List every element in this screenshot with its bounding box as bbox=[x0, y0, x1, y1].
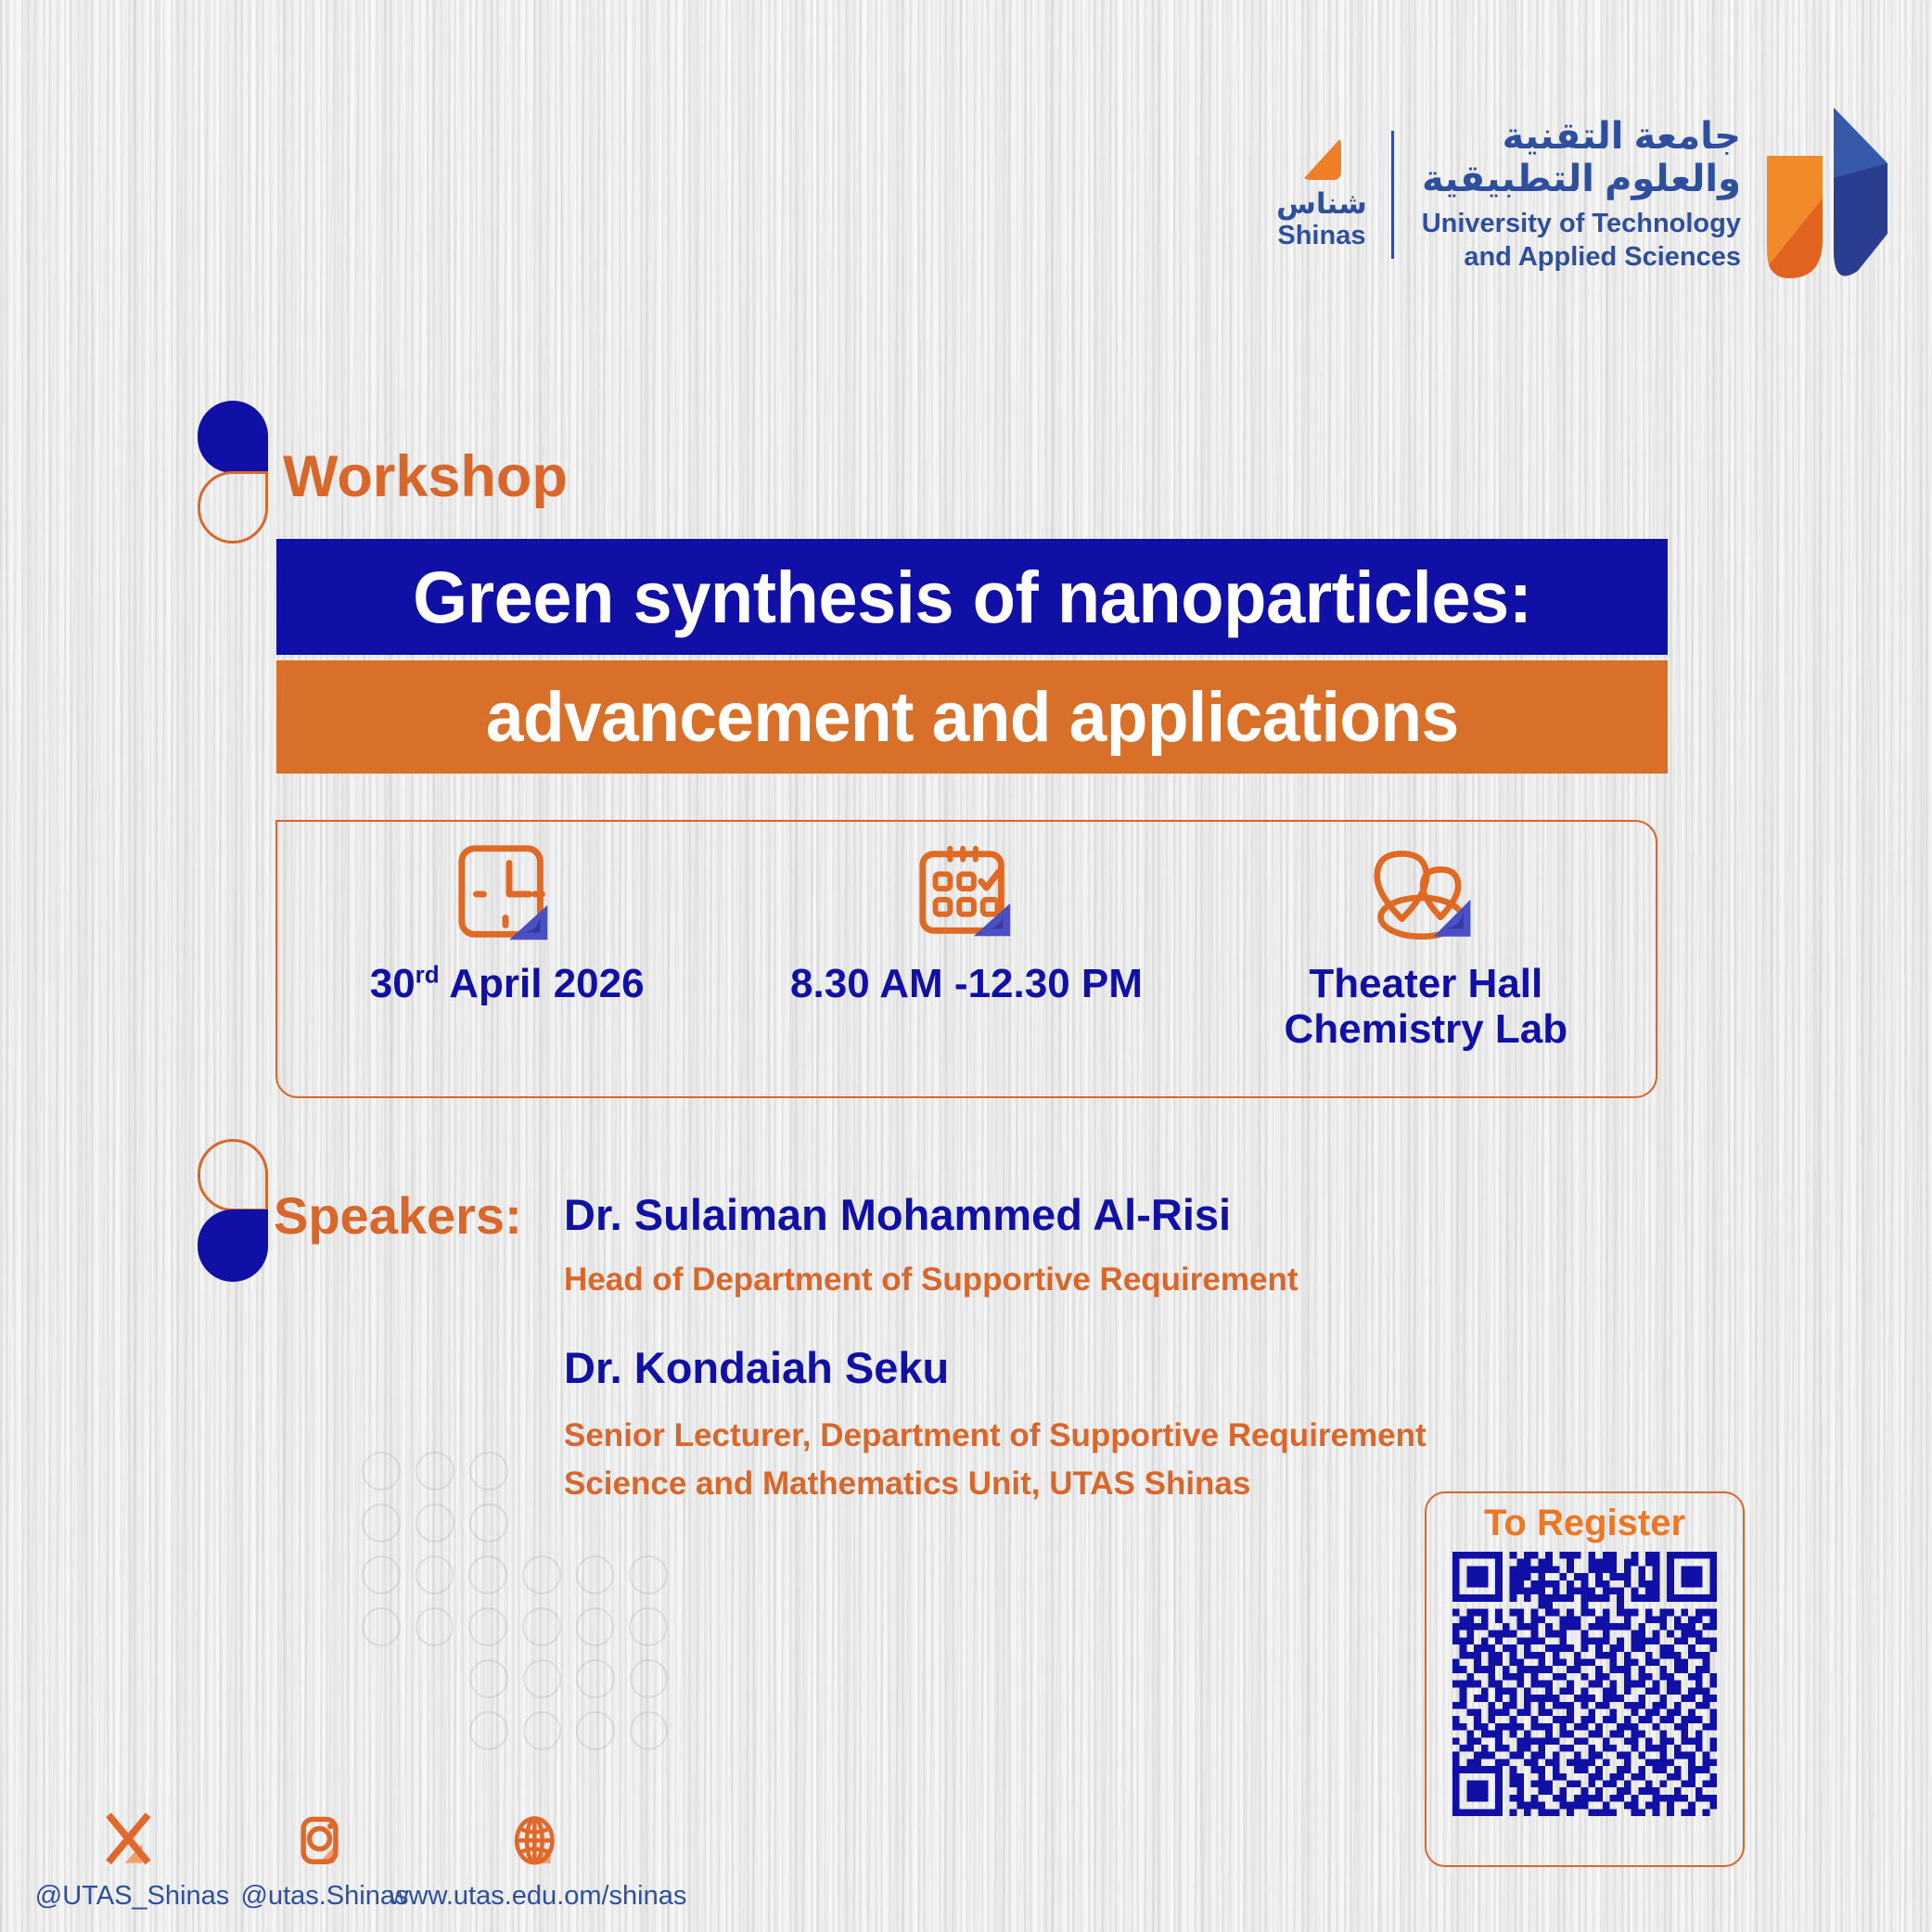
university-arabic-line1: جامعة التقنية bbox=[1422, 115, 1741, 158]
detail-date-text: 30rd April 2026 bbox=[370, 961, 645, 1006]
calendar-check-icon bbox=[912, 844, 1021, 948]
social-x-twitter[interactable]: @UTAS_Shinas bbox=[28, 1799, 237, 1912]
date-ordinal: rd bbox=[416, 960, 440, 988]
title-line1: Green synthesis of nanoparticles: bbox=[413, 555, 1531, 640]
speaker-2-role-line1: Senior Lecturer, Department of Supportiv… bbox=[564, 1417, 1427, 1454]
social-website[interactable]: www.utas.edu.om/shinas bbox=[413, 1799, 663, 1912]
detail-time: 8.30 AM -12.30 PM bbox=[736, 822, 1196, 1006]
social-instagram-handle: @utas.Shinas bbox=[241, 1881, 409, 1912]
university-arabic-line2: والعلوم التطبيقية bbox=[1422, 158, 1741, 200]
title-line2: advancement and applications bbox=[486, 677, 1459, 758]
detail-location: Theater Hall Chemistry Lab bbox=[1196, 822, 1656, 1053]
title-bar-primary: Green synthesis of nanoparticles: bbox=[276, 539, 1668, 655]
instagram-icon bbox=[295, 1799, 354, 1874]
register-label: To Register bbox=[1484, 1503, 1685, 1544]
decorative-motif-speakers bbox=[198, 1139, 268, 1282]
utas-shield-logo-icon bbox=[1761, 102, 1891, 288]
detail-location-line2: Chemistry Lab bbox=[1285, 1006, 1568, 1052]
university-english-line1: University of Technology bbox=[1422, 208, 1741, 241]
university-english-line2: and Applied Sciences bbox=[1422, 241, 1741, 275]
speaker-2-name: Dr. Kondaiah Seku bbox=[564, 1342, 949, 1393]
speaker-1-name: Dr. Sulaiman Mohammed Al-Risi bbox=[564, 1189, 1231, 1240]
date-day: 30 bbox=[370, 961, 416, 1006]
decorative-motif-workshop bbox=[198, 401, 268, 544]
campus-name-english: Shinas bbox=[1277, 220, 1365, 252]
motif-blue-shape bbox=[198, 401, 268, 473]
clock-document-icon bbox=[453, 844, 562, 948]
qr-code[interactable] bbox=[1452, 1552, 1717, 1816]
event-kind-label: Workshop bbox=[283, 443, 568, 510]
poster-canvas: شناس Shinas جامعة التقنية والعلوم التطبي… bbox=[0, 0, 1932, 1932]
motif-orange-outline-shape bbox=[198, 1139, 268, 1211]
university-logo-header: شناس Shinas جامعة التقنية والعلوم التطبي… bbox=[1276, 102, 1891, 288]
motif-orange-outline-shape bbox=[198, 471, 268, 544]
detail-location-line1: Theater Hall bbox=[1309, 961, 1542, 1006]
title-bar-secondary: advancement and applications bbox=[276, 660, 1668, 774]
social-instagram[interactable]: @utas.Shinas bbox=[237, 1799, 413, 1912]
campus-name-arabic: شناس bbox=[1276, 189, 1367, 220]
speakers-label: Speakers: bbox=[274, 1185, 522, 1246]
date-rest: April 2026 bbox=[440, 961, 645, 1006]
footer-social-bar: @UTAS_Shinas @utas.Shinas bbox=[28, 1799, 663, 1912]
shinas-triangle-icon bbox=[1302, 137, 1341, 180]
register-box[interactable]: To Register bbox=[1425, 1491, 1745, 1867]
social-website-url: www.utas.edu.om/shinas bbox=[390, 1881, 687, 1912]
university-name-block: جامعة التقنية والعلوم التطبيقية Universi… bbox=[1394, 115, 1761, 275]
social-x-handle: @UTAS_Shinas bbox=[35, 1881, 229, 1912]
event-details-box: 30rd April 2026 bbox=[275, 820, 1657, 1098]
motif-blue-shape bbox=[198, 1209, 268, 1282]
globe-icon bbox=[508, 1799, 568, 1874]
x-twitter-icon bbox=[102, 1799, 163, 1874]
speaker-1-role-line1: Head of Department of Supportive Require… bbox=[564, 1261, 1298, 1299]
speaker-2-role-line2: Science and Mathematics Unit, UTAS Shina… bbox=[564, 1465, 1250, 1503]
detail-time-text: 8.30 AM -12.30 PM bbox=[790, 961, 1143, 1006]
campus-name-block: شناس Shinas bbox=[1276, 137, 1391, 251]
detail-date: 30rd April 2026 bbox=[277, 822, 736, 1006]
map-pins-icon bbox=[1368, 844, 1483, 948]
